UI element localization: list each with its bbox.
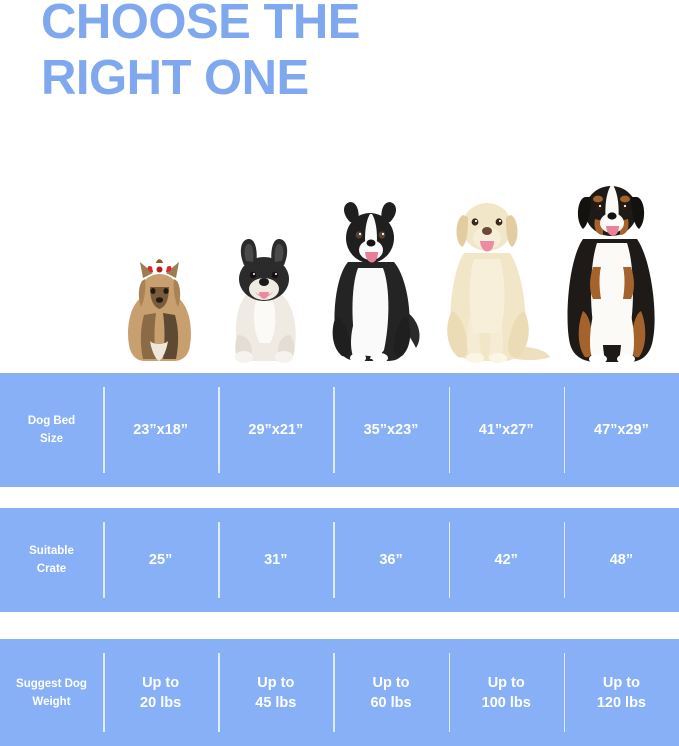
border-collie-icon: [318, 190, 428, 365]
dog-image-yorkshire-terrier: [112, 245, 207, 365]
cell-suitable-crate-3: 36”: [333, 508, 448, 612]
dog-image-border-collie: [318, 190, 428, 365]
cell-suitable-crate-5: 48”: [564, 508, 679, 612]
cell-suggest-dog-weight-1: Up to 20 lbs: [103, 639, 218, 746]
page-title: CHOOSE THE RIGHT ONE: [41, 0, 641, 106]
table-row-suggest-dog-weight: Suggest Dog Weight Up to 20 lbs Up to 45…: [0, 639, 679, 746]
dog-image-bernese-mountain-dog: [553, 163, 671, 365]
table-row-dog-bed-size: Dog Bed Size 23”x18” 29”x21” 35”x23” 41”…: [0, 373, 679, 487]
table-row-suitable-crate: Suitable Crate 25” 31” 36” 42” 48”: [0, 508, 679, 612]
red-bow-accessory: [148, 259, 172, 272]
cell-suggest-dog-weight-3: Up to 60 lbs: [333, 639, 448, 746]
cell-dog-bed-size-3: 35”x23”: [333, 373, 448, 487]
labrador-retriever-icon: [430, 175, 550, 365]
cell-dog-bed-size-1: 23”x18”: [103, 373, 218, 487]
cell-suitable-crate-2: 31”: [218, 508, 333, 612]
cell-suggest-dog-weight-4: Up to 100 lbs: [449, 639, 564, 746]
row-label-suggest-dog-weight: Suggest Dog Weight: [0, 639, 103, 746]
french-bulldog-icon: [218, 217, 310, 365]
dog-image-labrador-retriever: [430, 175, 550, 365]
bernese-mountain-dog-icon: [553, 163, 671, 365]
cell-suitable-crate-4: 42”: [449, 508, 564, 612]
row-label-suitable-crate: Suitable Crate: [0, 508, 103, 612]
cell-suggest-dog-weight-2: Up to 45 lbs: [218, 639, 333, 746]
cell-dog-bed-size-5: 47”x29”: [564, 373, 679, 487]
cell-suitable-crate-1: 25”: [103, 508, 218, 612]
cell-dog-bed-size-4: 41”x27”: [449, 373, 564, 487]
yorkshire-terrier-icon: [112, 245, 207, 365]
row-label-dog-bed-size: Dog Bed Size: [0, 373, 103, 487]
cell-suggest-dog-weight-5: Up to 120 lbs: [564, 639, 679, 746]
cell-dog-bed-size-2: 29”x21”: [218, 373, 333, 487]
dog-image-french-bulldog: [218, 217, 310, 365]
dog-size-illustration-strip: [0, 150, 679, 365]
